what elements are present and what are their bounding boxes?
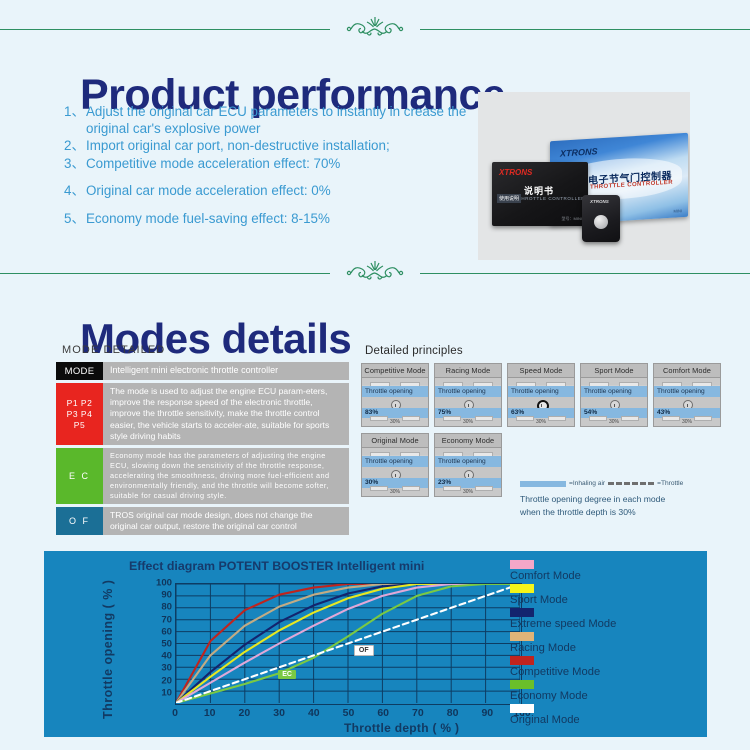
manual-model-label: 型号：MINI (562, 216, 582, 222)
product-device-unit: XTRONS (582, 195, 620, 242)
chart-y-tick-label: 70 (161, 614, 172, 625)
chart-legend-swatch (510, 704, 534, 713)
ornament-line-right (420, 273, 750, 274)
chart-x-tick-label: 90 (481, 707, 493, 719)
card-body: Throttle opening 75% 30% (434, 377, 502, 427)
principle-card: Speed Mode Throttle opening 63% 30% (507, 363, 575, 427)
chart-x-tick-label: 80 (447, 707, 459, 719)
table-row-value: TROS original car mode design, does not … (103, 507, 349, 535)
principle-card: Economy Mode Throttle opening 23% 30% (434, 433, 502, 497)
card-body: Throttle opening 83% 30% (361, 377, 429, 427)
chart-annotation-of: OF (354, 645, 374, 656)
chart-x-tick-label: 30 (273, 707, 285, 719)
card-foot-right (621, 416, 639, 421)
card-opening-label: Throttle opening (654, 386, 720, 397)
chart-legend-label: Racing Mode (510, 641, 700, 655)
card-title: Speed Mode (507, 363, 575, 377)
chart-x-tick-label: 40 (308, 707, 320, 719)
chart-y-tick-label: 90 (161, 590, 172, 601)
card-foot-left (443, 416, 461, 421)
card-title: Sport Mode (580, 363, 648, 377)
table-row: O F TROS original car mode design, does … (56, 507, 349, 535)
product-photo: XTRONS 电子节气门控制器 THROTTLE CONTROLLER MINI… (478, 92, 690, 260)
chart-y-tick-label: 10 (161, 687, 172, 698)
chart-legend-label: Competitive Mode (510, 665, 700, 679)
chart-legend-item: Extreme speed Mode (510, 608, 700, 631)
device-knob-icon (594, 215, 608, 229)
chart-legend-swatch (510, 560, 534, 569)
list-item-number: 2、 (64, 138, 86, 155)
chart-x-tick-label: 70 (412, 707, 424, 719)
ornament-line-right (420, 29, 750, 30)
principle-card: Racing Mode Throttle opening 75% 30% (434, 363, 502, 427)
table-row: MODE Intelligent mini electronic throttl… (56, 362, 349, 380)
legend-swatch-throttle (608, 482, 654, 485)
legend-label-throttle: =Throttle (657, 480, 683, 487)
card-foot-left (516, 416, 534, 421)
list-item-number: 4、 (64, 183, 86, 200)
legend-note-line1: Throttle opening degree in each mode (520, 493, 735, 506)
card-depth-label: 30% (463, 419, 473, 425)
chart-x-tick-label: 0 (172, 707, 178, 719)
list-item: 4、 Original car mode acceleration effect… (64, 183, 469, 200)
chart-x-tick-label: 50 (343, 707, 355, 719)
principle-card: Competitive Mode Throttle opening 83% 30… (361, 363, 429, 427)
chart-legend-item: Competitive Mode (510, 656, 700, 679)
card-depth-label: 30% (390, 489, 400, 495)
card-body: Throttle opening 43% 30% (653, 377, 721, 427)
principle-card-row-1: Competitive Mode Throttle opening 83% 30… (361, 363, 746, 427)
table-row: P1 P2 P3 P4 P5 The mode is used to adjus… (56, 383, 349, 445)
ornament-flourish-icon (329, 14, 421, 49)
manual-tag-label: 使用说明 (497, 194, 521, 203)
list-item-text: Original car mode acceleration effect: 0… (86, 183, 469, 200)
chart-x-tick-label: 60 (377, 707, 389, 719)
mode-detailed-label: MODE DETAILED (62, 344, 165, 356)
chart-legend-item: Racing Mode (510, 632, 700, 655)
chart-plot-area (175, 583, 522, 705)
chart-legend-item: Sport Mode (510, 584, 700, 607)
ornament-divider-middle (0, 258, 750, 288)
chart-y-tick-label: 100 (156, 578, 172, 589)
manual-brand-label: XTRONS (499, 168, 532, 177)
legend-note-line2: when the throttle depth is 30% (520, 506, 735, 519)
card-title: Competitive Mode (361, 363, 429, 377)
card-foot-right (475, 486, 493, 491)
box-model-label: MINI (674, 208, 682, 214)
list-item-text: Economy mode fuel-saving effect: 8-15% (86, 211, 469, 228)
table-row: E C Economy mode has the parameters of a… (56, 448, 349, 504)
card-opening-label: Throttle opening (581, 386, 647, 397)
principle-card: Original Mode Throttle opening 30% 30% (361, 433, 429, 497)
card-title: Comfort Mode (653, 363, 721, 377)
card-title: Racing Mode (434, 363, 502, 377)
chart-legend-swatch (510, 680, 534, 689)
chart-legend-swatch (510, 584, 534, 593)
ornament-flourish-icon (329, 258, 421, 293)
product-manual: XTRONS 说明书 THROTTLE CONTROLLER 使用说明 型号：M… (492, 162, 588, 226)
chart-legend-label: Comfort Mode (510, 569, 700, 583)
card-foot-left (443, 486, 461, 491)
box-brand-label: XTRONS (560, 146, 598, 158)
list-item: 2、 Import original car port, non-destruc… (64, 138, 469, 155)
chart-legend-item: Original Mode (510, 704, 700, 727)
table-row-key: E C (56, 448, 103, 504)
card-foot-left (370, 416, 388, 421)
detailed-principles-label: Detailed principles (365, 345, 463, 357)
card-foot-right (548, 416, 566, 421)
chart-x-tick-label: 10 (204, 707, 216, 719)
card-opening-label: Throttle opening (435, 456, 501, 467)
chart-annotation-ec: EC (278, 670, 296, 679)
card-opening-label: Throttle opening (435, 386, 501, 397)
chart-y-axis-label: Throttle opening ( % ) (98, 579, 118, 719)
card-title: Original Mode (361, 433, 429, 447)
chart-legend-item: Economy Mode (510, 680, 700, 703)
card-body: Throttle opening 63% 30% (507, 377, 575, 427)
card-title: Economy Mode (434, 433, 502, 447)
card-body: Throttle opening 23% 30% (434, 447, 502, 497)
table-row-value: Intelligent mini electronic throttle con… (103, 362, 349, 380)
chart-y-tick-label: 40 (161, 651, 172, 662)
chart-y-tick-label: 80 (161, 602, 172, 613)
card-depth-label: 30% (390, 419, 400, 425)
chart-series-svg (176, 584, 520, 703)
list-item-number: 3、 (64, 156, 86, 173)
list-item: 1、 Adjust the original car ECU parameter… (64, 104, 469, 137)
card-depth-label: 30% (463, 489, 473, 495)
chart-legend-swatch (510, 632, 534, 641)
card-depth-label: 30% (682, 419, 692, 425)
list-item: 5、 Economy mode fuel-saving effect: 8-15… (64, 211, 469, 228)
table-row-key: P1 P2 P3 P4 P5 (56, 383, 103, 445)
chart-legend-label: Economy Mode (510, 689, 700, 703)
card-foot-left (370, 486, 388, 491)
list-item-text: Import original car port, non-destructiv… (86, 138, 469, 155)
card-depth-label: 30% (536, 419, 546, 425)
list-item: 3、 Competitive mode acceleration effect:… (64, 156, 469, 173)
list-item-number: 1、 (64, 104, 86, 137)
chart-y-tick-label: 20 (161, 675, 172, 686)
chart-y-tick-label: 60 (161, 626, 172, 637)
card-depth-label: 30% (609, 419, 619, 425)
chart-legend-swatch (510, 608, 534, 617)
chart-x-axis-label: Throttle depth ( % ) (344, 721, 459, 735)
ornament-line-left (0, 273, 330, 274)
legend-label-air: =Inhaling air (569, 480, 605, 487)
table-row-value: The mode is used to adjust the engine EC… (103, 383, 349, 445)
chart-legend-item: Comfort Mode (510, 560, 700, 583)
feature-list: 1、 Adjust the original car ECU parameter… (64, 104, 469, 228)
principles-legend: =Inhaling air =Throttle Throttle opening… (520, 480, 735, 519)
device-brand-label: XTRONS (590, 199, 609, 204)
marketing-page: Product performance 1、 Adjust the origin… (0, 0, 750, 750)
chart-y-tick-label: 50 (161, 639, 172, 650)
chart-legend-swatch (510, 656, 534, 665)
card-opening-label: Throttle opening (362, 456, 428, 467)
card-foot-right (694, 416, 712, 421)
chart-legend-label: Extreme speed Mode (510, 617, 700, 631)
table-row-value: Economy mode has the parameters of adjus… (103, 448, 349, 504)
principle-card: Comfort Mode Throttle opening 43% 30% (653, 363, 721, 427)
ornament-line-left (0, 29, 330, 30)
ornament-divider-top (0, 14, 750, 44)
legend-swatch-air (520, 481, 566, 487)
chart-y-tick-label: 30 (161, 663, 172, 674)
card-foot-left (662, 416, 680, 421)
chart-x-tick-label: 20 (239, 707, 251, 719)
chart-y-ticks: 102030405060708090100 (142, 583, 172, 705)
table-row-key: O F (56, 507, 103, 535)
legend-row-air: =Inhaling air =Throttle (520, 480, 735, 487)
card-body: Throttle opening 30% 30% (361, 447, 429, 497)
chart-legend-label: Sport Mode (510, 593, 700, 607)
mode-detail-table: MODE Intelligent mini electronic throttl… (56, 362, 349, 538)
chart-legend: Comfort ModeSport ModeExtreme speed Mode… (510, 560, 700, 728)
list-item-number: 5、 (64, 211, 86, 228)
card-foot-right (475, 416, 493, 421)
card-foot-right (402, 486, 420, 491)
list-item-text: Adjust the original car ECU parameters t… (86, 104, 469, 137)
card-opening-label: Throttle opening (362, 386, 428, 397)
card-foot-right (402, 416, 420, 421)
card-foot-left (589, 416, 607, 421)
list-item-text: Competitive mode acceleration effect: 70… (86, 156, 469, 173)
chart-title: Effect diagram POTENT BOOSTER Intelligen… (129, 559, 424, 573)
chart-legend-label: Original Mode (510, 713, 700, 727)
card-opening-label: Throttle opening (508, 386, 574, 397)
principle-card: Sport Mode Throttle opening 54% 30% (580, 363, 648, 427)
table-row-key: MODE (56, 362, 103, 380)
card-body: Throttle opening 54% 30% (580, 377, 648, 427)
manual-subtitle-label: THROTTLE CONTROLLER (518, 196, 585, 201)
